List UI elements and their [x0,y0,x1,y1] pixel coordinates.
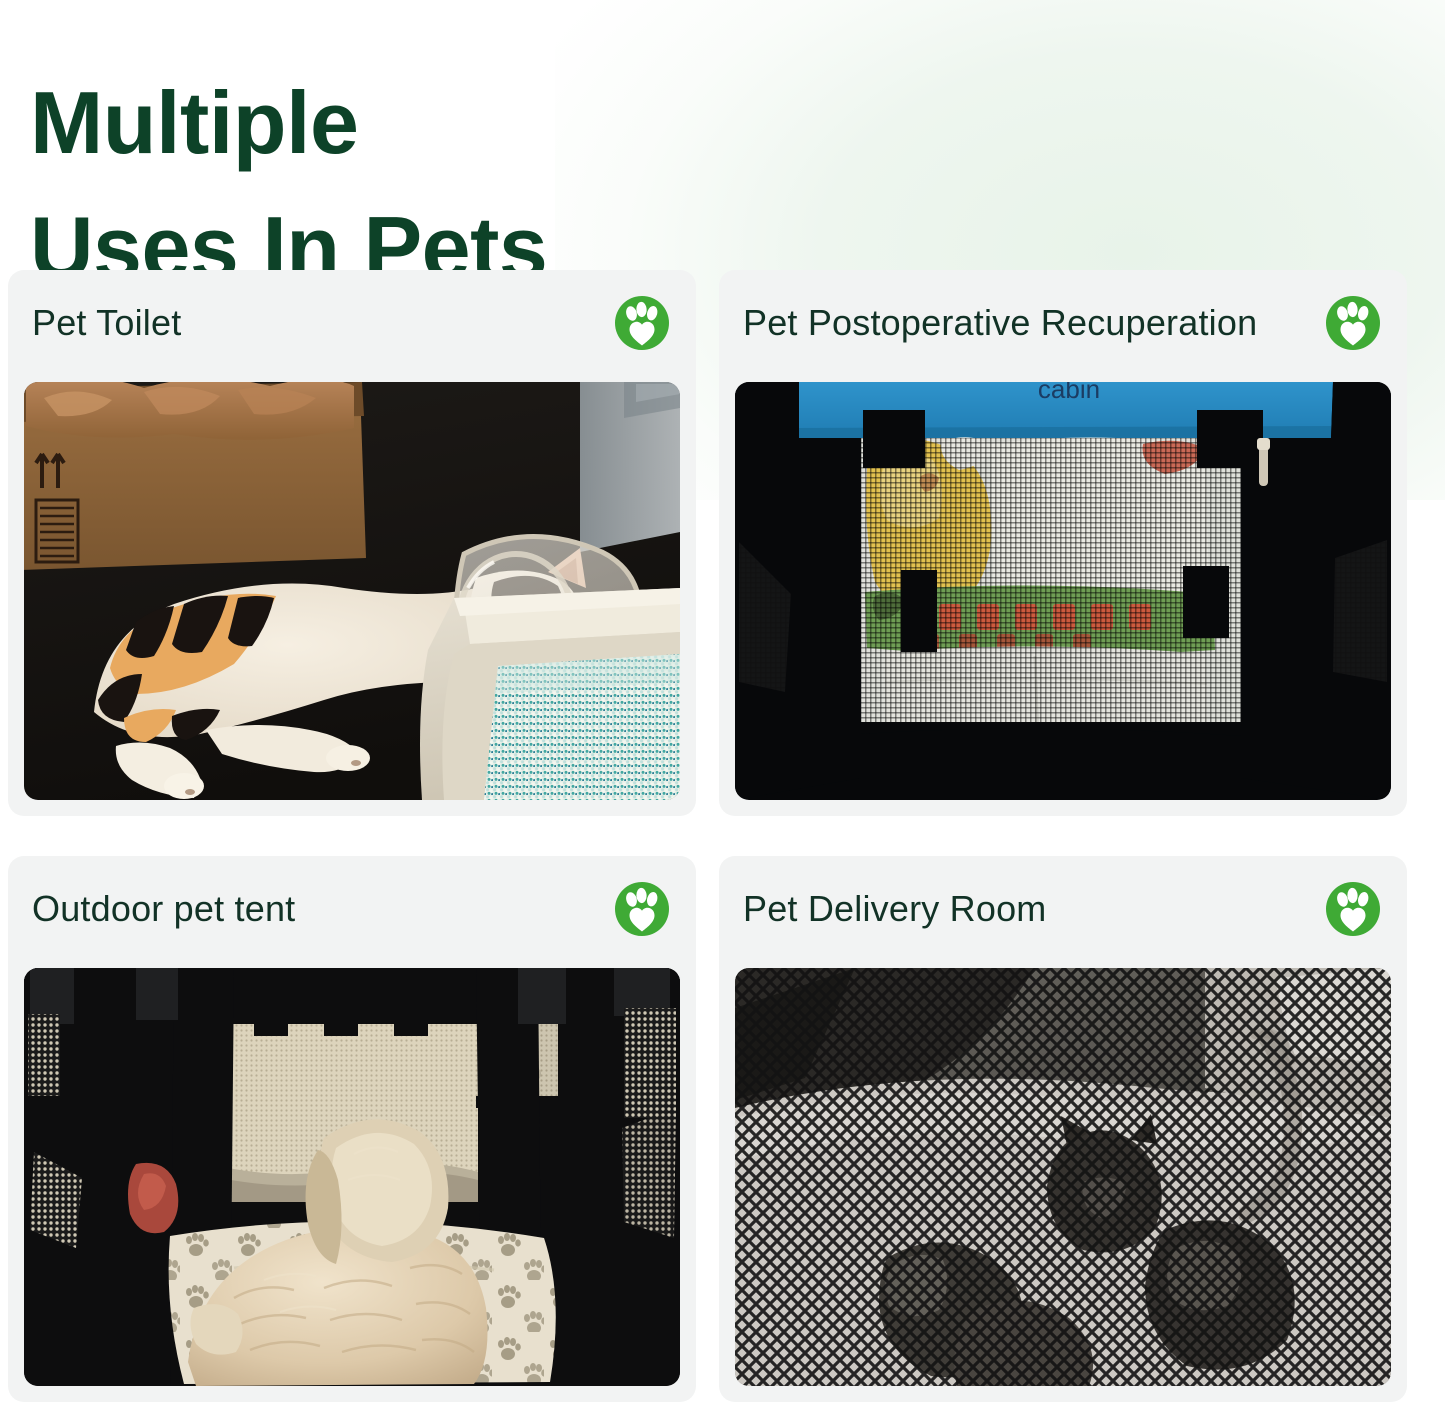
use-case-card-grid: Pet Toilet [8,270,1407,1402]
card-header: Pet Toilet [8,270,696,376]
carrier-banner-text: cabin [1038,382,1100,404]
photo-mesh-carrier-cabin: cabin [735,382,1391,800]
photo-kittens-behind-mesh [735,968,1391,1386]
card-title: Pet Delivery Room [743,888,1047,930]
card-header: Pet Postoperative Recuperation [719,270,1407,376]
use-case-card-pet-toilet[interactable]: Pet Toilet [8,270,696,816]
card-title: Pet Toilet [32,302,181,344]
card-title: Outdoor pet tent [32,888,295,930]
use-case-card-pet-postoperative-recuperation[interactable]: Pet Postoperative Recuperation [719,270,1407,816]
card-header: Outdoor pet tent [8,856,696,962]
use-case-card-outdoor-pet-tent[interactable]: Outdoor pet tent [8,856,696,1402]
use-case-card-pet-delivery-room[interactable]: Pet Delivery Room [719,856,1407,1402]
paw-icon [614,295,670,351]
paw-icon [1325,295,1381,351]
paw-icon [1325,881,1381,937]
photo-calico-cat-litter-box [24,382,680,800]
photo-dog-in-pet-tent [24,968,680,1386]
paw-icon [614,881,670,937]
card-title: Pet Postoperative Recuperation [743,302,1257,344]
card-header: Pet Delivery Room [719,856,1407,962]
